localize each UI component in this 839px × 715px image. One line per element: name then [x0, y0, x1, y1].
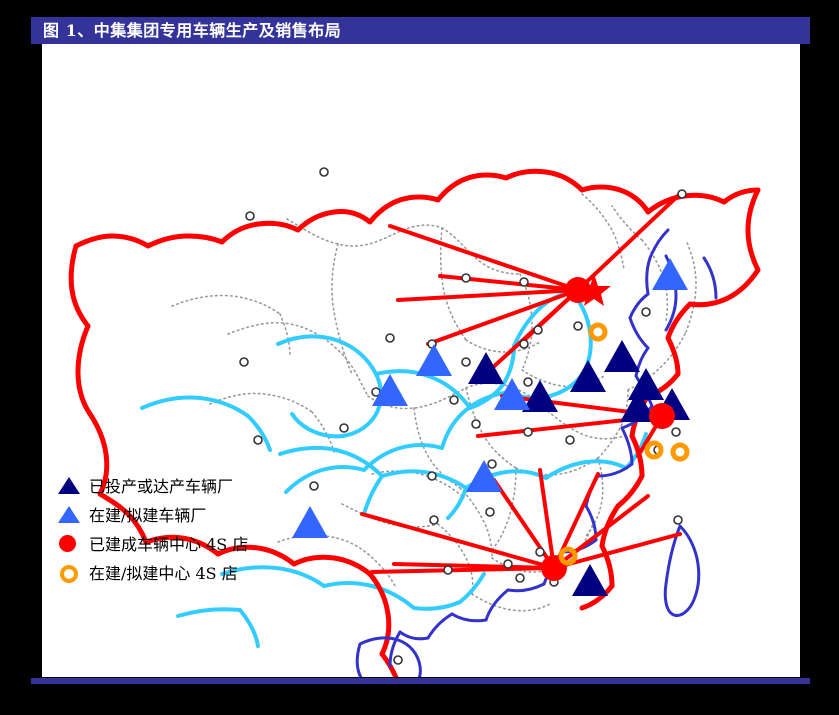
legend-label-center-built: 已建成车辆中心 4S 店 [89, 531, 248, 555]
legend-item-factory-operating: 已投产或达产车辆厂 [55, 470, 315, 499]
distribution-lines [362, 192, 682, 572]
triangle-blue-icon [55, 502, 85, 526]
figure-title: 图 1、中集集团专用车辆生产及销售布局 [31, 22, 341, 40]
bottom-rule [31, 678, 810, 684]
triangle-navy-icon [55, 473, 85, 497]
legend-item-center-planned: 在建/拟建中心 4S 店 [55, 557, 315, 586]
legend-item-factory-planned: 在建/拟建车辆厂 [55, 499, 315, 528]
rivers [142, 292, 646, 646]
figure-title-bar: 图 1、中集集团专用车辆生产及销售布局 [31, 17, 810, 44]
legend-label-factory-operating: 已投产或达产车辆厂 [89, 473, 233, 497]
ring-orange-icon [55, 560, 85, 584]
figure-root: 图 1、中集集团专用车辆生产及销售布局 [0, 0, 839, 715]
legend: 已投产或达产车辆厂 在建/拟建车辆厂 已建成车辆中心 4S 店 在建/拟建中心 … [55, 470, 315, 586]
legend-item-center-built: 已建成车辆中心 4S 店 [55, 528, 315, 557]
legend-label-factory-planned: 在建/拟建车辆厂 [89, 502, 206, 526]
circle-red-icon [55, 531, 85, 555]
city-dots [240, 168, 686, 664]
legend-label-center-planned: 在建/拟建中心 4S 店 [89, 560, 238, 584]
